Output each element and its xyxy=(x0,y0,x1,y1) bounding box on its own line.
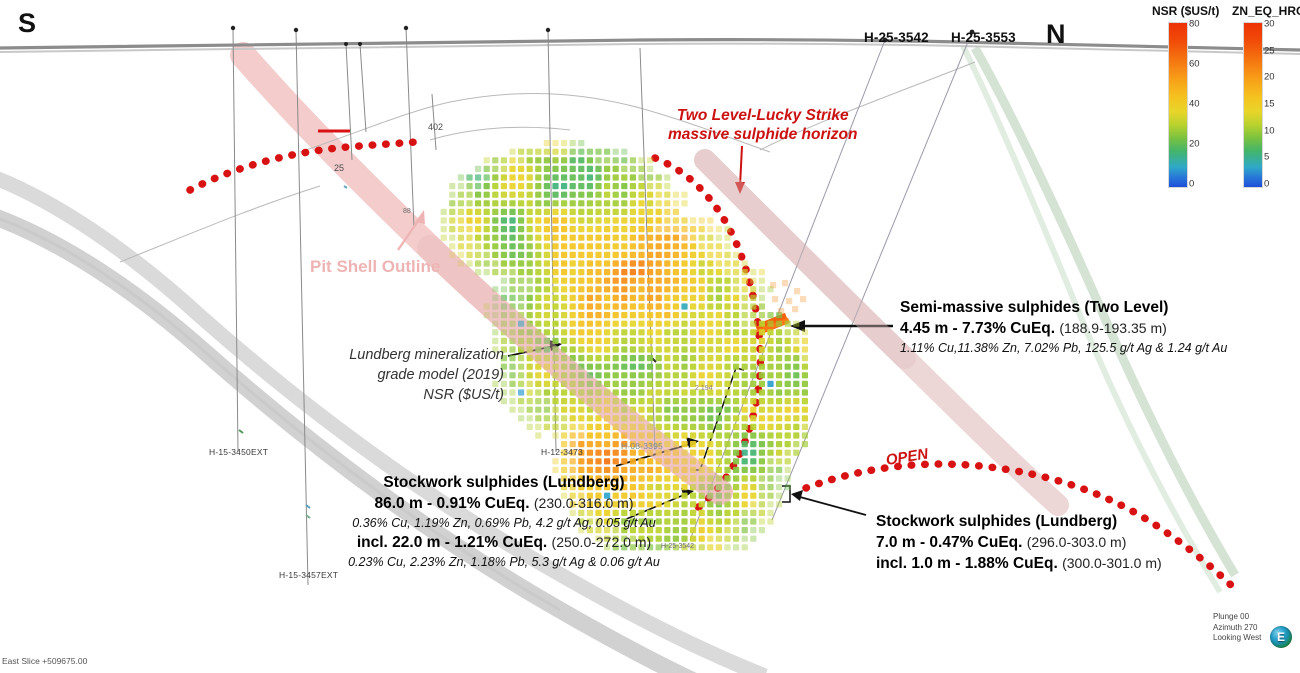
callout-incl-intercept: incl. 22.0 m - 1.21% CuEq. (250.0-272.0 … xyxy=(330,532,678,553)
callout-intercept: 7.0 m - 0.47% CuEq. (296.0-303.0 m) xyxy=(876,532,1162,553)
drillhole-label-h-25-3542[interactable]: H-25-3542 xyxy=(864,30,929,45)
legend-tick: 20 xyxy=(1189,139,1200,150)
legend-tick: 80 xyxy=(1189,19,1200,30)
callout-incl-range: (250.0-272.0 m) xyxy=(552,534,652,550)
legend-tick: 60 xyxy=(1189,59,1200,70)
callout-incl-intercept: incl. 1.0 m - 1.88% CuEq. (300.0-301.0 m… xyxy=(876,553,1162,574)
callout-semi-massive-two-level: Semi-massive sulphides (Two Level) 4.45 … xyxy=(900,298,1227,357)
drillhole-label-h-15-3457ext[interactable]: H-15-3457EXT xyxy=(279,570,338,580)
legend-nsr: NSR ($US/t) 806040200 xyxy=(1152,4,1242,194)
orientation-azimuth: Azimuth 270 xyxy=(1213,623,1261,634)
orientation-compass-ball: E xyxy=(1270,626,1292,648)
legend-zn-colorbar xyxy=(1243,22,1263,188)
callout-intercept-range: (296.0-303.0 m) xyxy=(1027,534,1127,550)
legend-tick: 30 xyxy=(1264,19,1275,30)
callout-intercept: 4.45 m - 7.73% CuEq. (188.9-193.35 m) xyxy=(900,318,1227,339)
callout-intercept-value: 86.0 m - 0.91% CuEq. xyxy=(375,495,530,512)
callout-incl-assays: 0.23% Cu, 2.23% Zn, 1.18% Pb, 5.3 g/t Ag… xyxy=(330,553,678,571)
legend-tick: 20 xyxy=(1264,72,1275,83)
grade-model-line3: NSR ($US/t) xyxy=(338,385,504,405)
legend-zn-title: ZN_EQ_HRG xyxy=(1232,4,1300,18)
cross-section-figure: S N H-25-3542 H-25-3553 H-15-3450EXT H-1… xyxy=(0,0,1300,673)
horizon-annotation-line2: massive sulphide horizon xyxy=(668,125,858,144)
grade-model-line1: Lundberg mineralization xyxy=(338,345,504,365)
pit-shell-label: Pit Shell Outline xyxy=(310,257,440,277)
legend-tick: 25 xyxy=(1264,45,1275,56)
grade-model-line2: grade model (2019) xyxy=(338,365,504,385)
legend-tick: 0 xyxy=(1189,179,1194,190)
compass-south: S xyxy=(18,8,36,39)
callout-stockwork-lundberg-main: Stockwork sulphides (Lundberg) 86.0 m - … xyxy=(330,473,678,571)
legend-tick: 10 xyxy=(1264,125,1275,136)
callout-incl-value: incl. 1.0 m - 1.88% CuEq. xyxy=(876,555,1058,572)
callout-intercept-range: (230.0-316.0 m) xyxy=(534,495,634,511)
orientation-looking: Looking West xyxy=(1213,633,1261,644)
legend-tick: 15 xyxy=(1264,99,1275,110)
legend-nsr-title: NSR ($US/t) xyxy=(1152,4,1219,18)
callout-assays: 0.36% Cu, 1.19% Zn, 0.69% Pb, 4.2 g/t Ag… xyxy=(330,514,678,532)
callout-intercept-range: (188.9-193.35 m) xyxy=(1059,320,1166,336)
legend-tick: 0 xyxy=(1264,179,1269,190)
horizon-annotation: Two Level-Lucky Strike massive sulphide … xyxy=(668,106,858,144)
depth-tick-402: 402 xyxy=(428,122,443,132)
callout-incl-value: incl. 22.0 m - 1.21% CuEq. xyxy=(357,534,547,551)
compass-north: N xyxy=(1046,19,1066,50)
orientation-note: Plunge 00 Azimuth 270 Looking West xyxy=(1213,612,1261,644)
depth-tick-88: 88 xyxy=(403,208,411,215)
orientation-ball-letter: E xyxy=(1270,626,1292,648)
drillhole-label-h-25-3553[interactable]: H-25-3553 xyxy=(951,30,1016,45)
callout-stockwork-lundberg-east: Stockwork sulphides (Lundberg) 7.0 m - 0… xyxy=(876,512,1162,574)
orientation-plunge: Plunge 00 xyxy=(1213,612,1261,623)
drillhole-label-h-08-3395[interactable]: H-08-3395 xyxy=(621,441,663,451)
drillhole-label-h-15-3450ext[interactable]: H-15-3450EXT xyxy=(209,447,268,457)
drillhole-label-h-12-3473[interactable]: H-12-3473 xyxy=(541,447,583,457)
grade-model-label: Lundberg mineralization grade model (201… xyxy=(338,345,504,405)
callout-title: Stockwork sulphides (Lundberg) xyxy=(330,473,678,493)
slice-label: East Slice +509675.00 xyxy=(2,656,87,666)
legend-zn-eq-hrg: ZN_EQ_HRG 302520151050 xyxy=(1232,4,1300,194)
depth-tick-25: 25 xyxy=(334,163,344,173)
legend-tick: 40 xyxy=(1189,99,1200,110)
legend-nsr-colorbar xyxy=(1168,22,1188,188)
depth-tick-2194: 2 194 xyxy=(695,385,713,392)
horizon-annotation-line1: Two Level-Lucky Strike xyxy=(668,106,858,125)
callout-intercept-value: 7.0 m - 0.47% CuEq. xyxy=(876,534,1022,551)
callout-intercept: 86.0 m - 0.91% CuEq. (230.0-316.0 m) xyxy=(330,493,678,514)
callout-intercept-value: 4.45 m - 7.73% CuEq. xyxy=(900,320,1055,337)
legend-tick: 5 xyxy=(1264,152,1269,163)
callout-assays: 1.11% Cu,11.38% Zn, 7.02% Pb, 125.5 g/t … xyxy=(900,339,1227,357)
callout-incl-range: (300.0-301.0 m) xyxy=(1062,555,1162,571)
callout-title: Semi-massive sulphides (Two Level) xyxy=(900,298,1227,318)
callout-title: Stockwork sulphides (Lundberg) xyxy=(876,512,1162,532)
